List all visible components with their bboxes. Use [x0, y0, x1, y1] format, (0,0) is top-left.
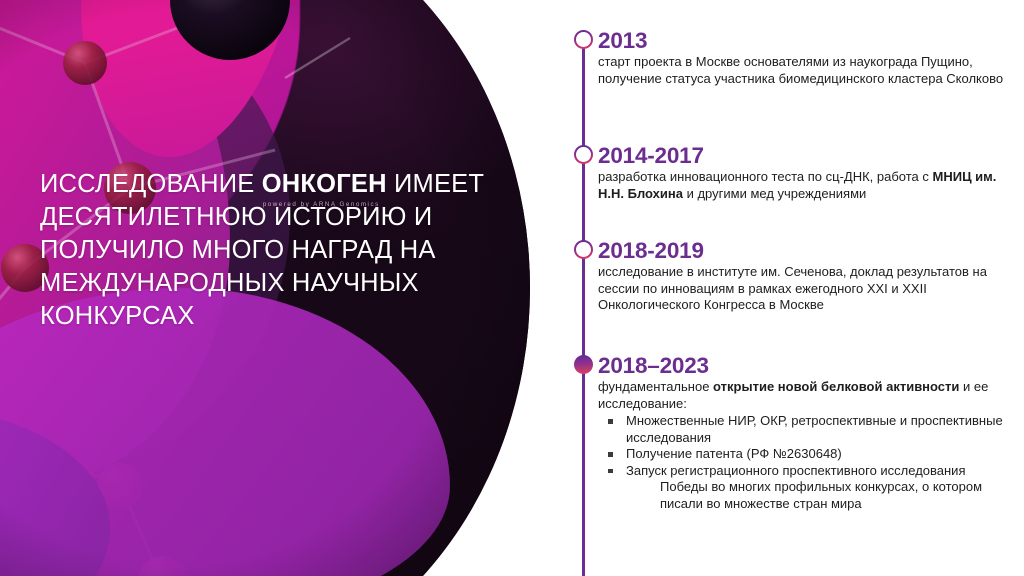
- timeline-entry-body: 2018–2023 фундаментальное открытие новой…: [598, 353, 1018, 512]
- timeline-subnote: Победы во многих профильных конкурсах, о…: [660, 479, 1018, 512]
- timeline-marker-hollow: [574, 145, 593, 164]
- timeline: 2013 старт проекта в Москве основателями…: [560, 0, 1024, 576]
- timeline-year-label: 2018–2023: [598, 353, 1018, 378]
- timeline-marker-hollow: [574, 240, 593, 259]
- title-line-5: КОНКУРСАХ: [40, 300, 510, 333]
- list-item: Запуск регистрационного проспективного и…: [598, 463, 1018, 480]
- title-line-3: ПОЛУЧИЛО МНОГО НАГРАД НА: [40, 234, 510, 267]
- list-item-label: Множественные НИР, ОКР, ретроспективные …: [626, 413, 1003, 445]
- square-bullet-icon: [608, 469, 613, 474]
- desc-part-1: разработка инновационного теста по сц-ДН…: [598, 169, 933, 184]
- timeline-description: фундаментальное открытие новой белковой …: [598, 379, 1018, 412]
- title-line-1: ИССЛЕДОВАНИЕ ОНКОГЕНpowered by ARNA Geno…: [40, 168, 510, 201]
- list-item-label: Запуск регистрационного проспективного и…: [626, 463, 966, 478]
- timeline-entry-body: 2014-2017 разработка инновационного тест…: [598, 143, 1018, 202]
- slide-root: ИССЛЕДОВАНИЕ ОНКОГЕНpowered by ARNA Geno…: [0, 0, 1024, 576]
- title-text-pre: ИССЛЕДОВАНИЕ: [40, 170, 262, 198]
- timeline-year-label: 2013: [598, 28, 1018, 53]
- timeline-year-label: 2014-2017: [598, 143, 1018, 168]
- brand-tagline: powered by ARNA Genomics: [263, 188, 380, 221]
- timeline-entry-body: 2013 старт проекта в Москве основателями…: [598, 28, 1018, 87]
- timeline-bullet-list: Множественные НИР, ОКР, ретроспективные …: [598, 413, 1018, 479]
- timeline-entry-body: 2018-2019 исследование в институте им. С…: [598, 238, 1018, 314]
- timeline-description: исследование в институте им. Сеченова, д…: [598, 264, 1018, 314]
- desc-part-1: фундаментальное: [598, 379, 713, 394]
- list-item-label: Получение патента (РФ №2630648): [626, 446, 842, 461]
- timeline-marker-filled: [574, 355, 593, 374]
- desc-bold: открытие новой белковой активности: [713, 379, 959, 394]
- title-line-4: МЕЖДУНАРОДНЫХ НАУЧНЫХ: [40, 267, 510, 300]
- list-item: Множественные НИР, ОКР, ретроспективные …: [598, 413, 1018, 446]
- timeline-marker-hollow: [574, 30, 593, 49]
- square-bullet-icon: [608, 419, 613, 424]
- title-text-post: ИМЕЕТ: [387, 170, 484, 198]
- desc-part-2: и другими мед учреждениями: [683, 186, 866, 201]
- timeline-year-label: 2018-2019: [598, 238, 1018, 263]
- timeline-axis-line: [582, 38, 585, 576]
- list-item: Получение патента (РФ №2630648): [598, 446, 1018, 463]
- page-title: ИССЛЕДОВАНИЕ ОНКОГЕНpowered by ARNA Geno…: [40, 168, 510, 333]
- brand-name: ОНКОГЕНpowered by ARNA Genomics: [262, 168, 387, 201]
- timeline-description: разработка инновационного теста по сц-ДН…: [598, 169, 1018, 202]
- timeline-description: старт проекта в Москве основателями из н…: [598, 54, 1018, 87]
- square-bullet-icon: [608, 452, 613, 457]
